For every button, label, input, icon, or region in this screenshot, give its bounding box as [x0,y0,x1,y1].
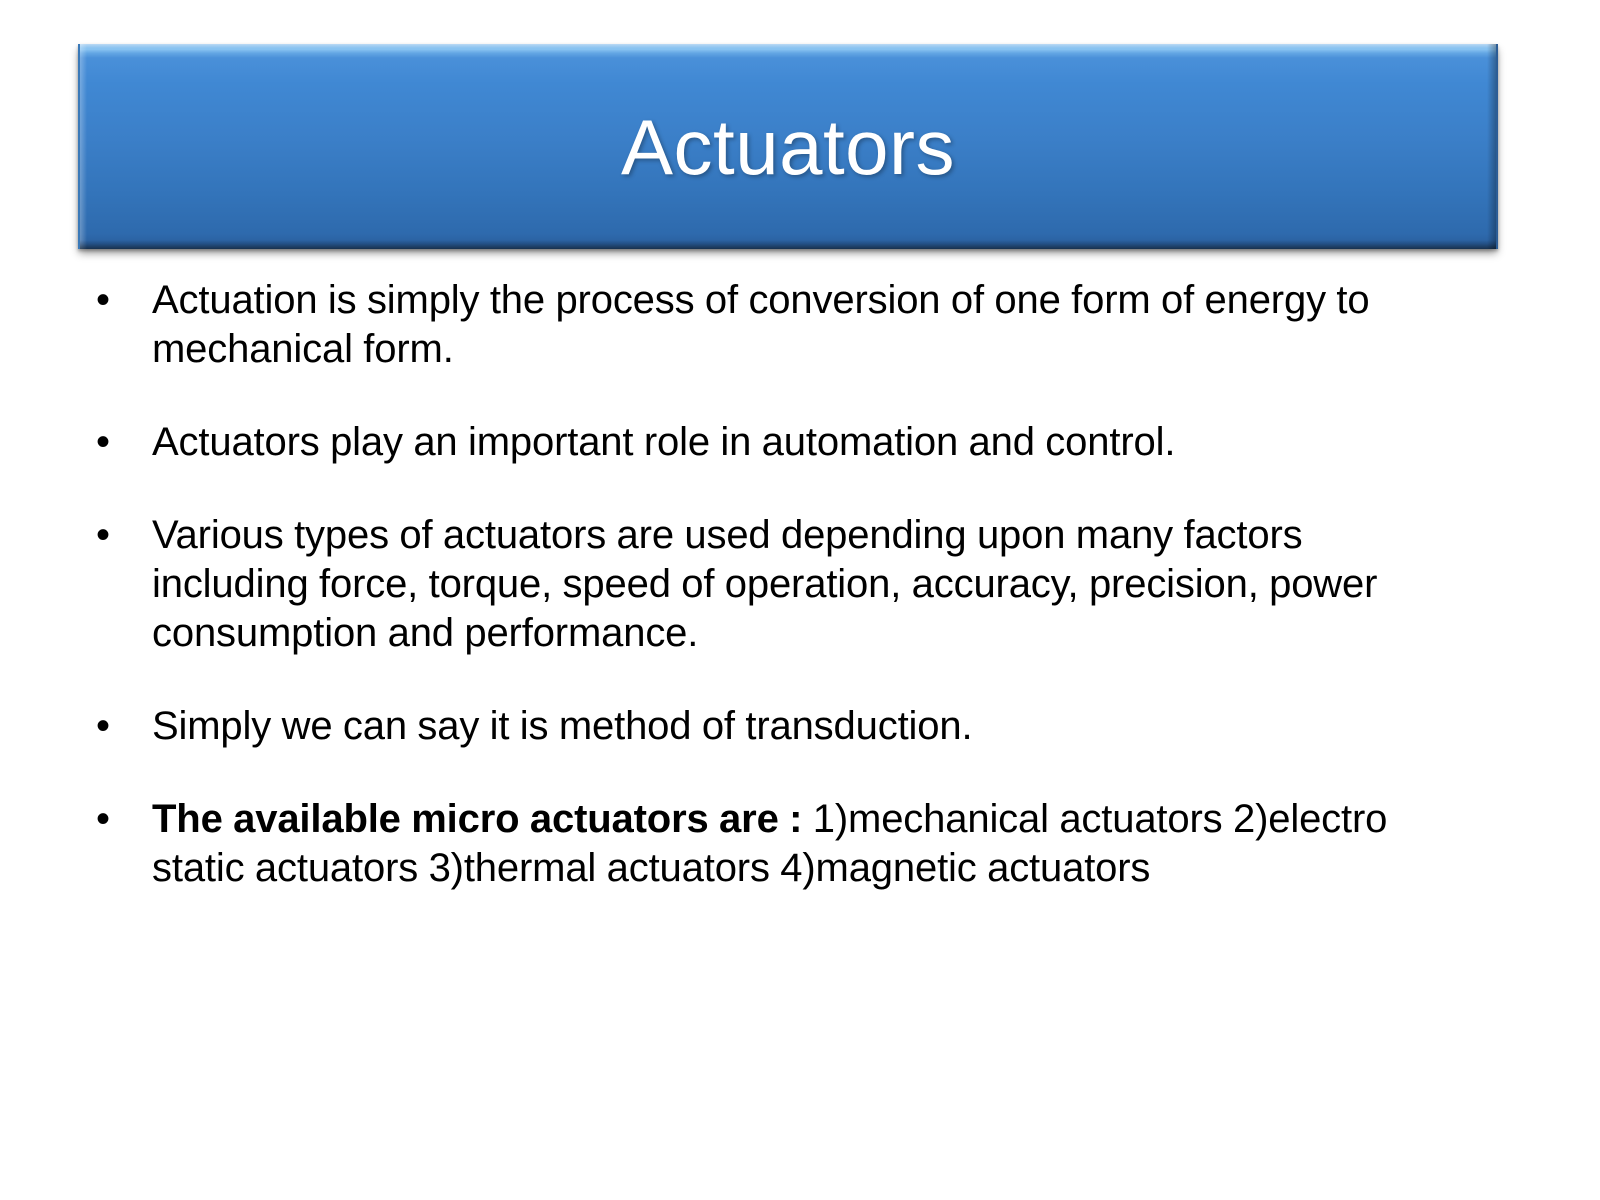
banner-bottom-bevel [80,240,1496,249]
bullet-glyph-icon: • [86,276,152,325]
bullet-glyph-icon: • [86,511,152,560]
bullet-item-automation-role: • Actuators play an important role in au… [86,418,1486,467]
bullet-glyph-icon: • [86,702,152,751]
banner-top-highlight [80,44,1496,48]
bullet-item-micro-actuator-list: • The available micro actuators are : 1)… [86,795,1486,893]
title-banner-background: Actuators [78,44,1498,249]
bullet-text-automation-role: Actuators play an important role in auto… [152,418,1486,467]
bullet-list: • Actuation is simply the process of con… [86,276,1486,893]
bullet-text-micro-actuator-list: The available micro actuators are : 1)me… [152,795,1412,893]
bullet-glyph-icon: • [86,418,152,467]
bullet-item-transduction: • Simply we can say it is method of tran… [86,702,1486,751]
bullet-item-types-factors: • Various types of actuators are used de… [86,511,1486,658]
title-banner: Actuators [78,44,1498,249]
slide-title: Actuators [80,108,1496,186]
bullet-item-actuation-definition: • Actuation is simply the process of con… [86,276,1486,374]
bullet-text-transduction: Simply we can say it is method of transd… [152,702,1486,751]
bullet-text-types-factors: Various types of actuators are used depe… [152,511,1462,658]
bullet-bold-lead: The available micro actuators are : [152,797,802,841]
bullet-glyph-icon: • [86,795,152,844]
bullet-text-actuation-definition: Actuation is simply the process of conve… [152,276,1462,374]
slide-canvas: Actuators • Actuation is simply the proc… [0,0,1600,1200]
